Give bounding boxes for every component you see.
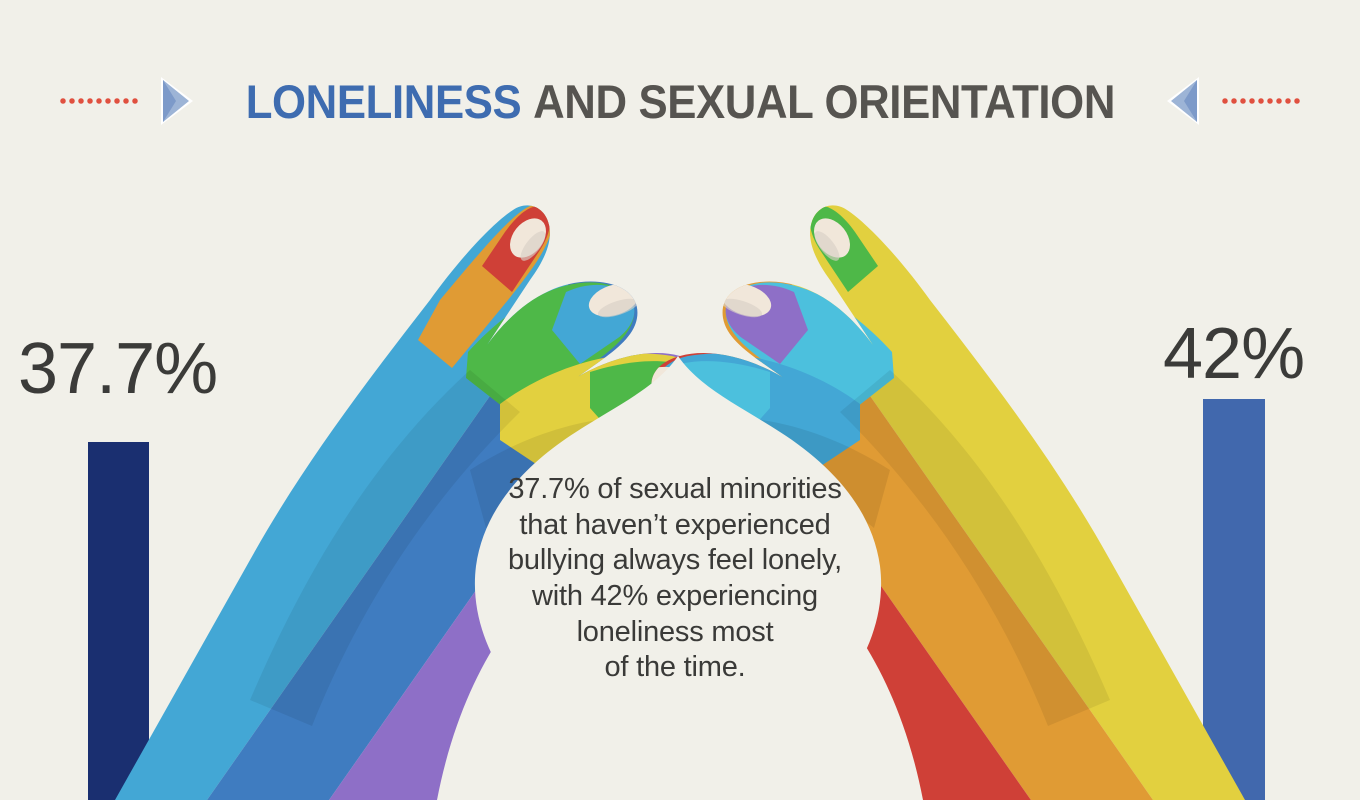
- stat-value-left: 37.7%: [18, 333, 217, 405]
- stat-value-right: 42%: [1163, 318, 1304, 390]
- page-header: LONELINESS AND SEXUAL ORIENTATION: [0, 62, 1360, 140]
- left-dotted-rule: [57, 98, 141, 104]
- arrow-left-icon: [1165, 75, 1201, 127]
- page-title-rest: AND SEXUAL ORIENTATION: [533, 75, 1115, 128]
- page-title: LONELINESS AND SEXUAL ORIENTATION: [245, 78, 1114, 125]
- stat-bar-right: [1203, 399, 1265, 800]
- stat-bar-left: [88, 442, 149, 800]
- infographic-canvas: LONELINESS AND SEXUAL ORIENTATION 37.7% …: [0, 0, 1360, 800]
- heart-caption-text: 37.7% of sexual minorities that haven’t …: [440, 472, 910, 686]
- right-dotted-rule: [1219, 98, 1303, 104]
- arrow-right-icon: [159, 75, 195, 127]
- page-title-highlight: LONELINESS: [245, 75, 521, 128]
